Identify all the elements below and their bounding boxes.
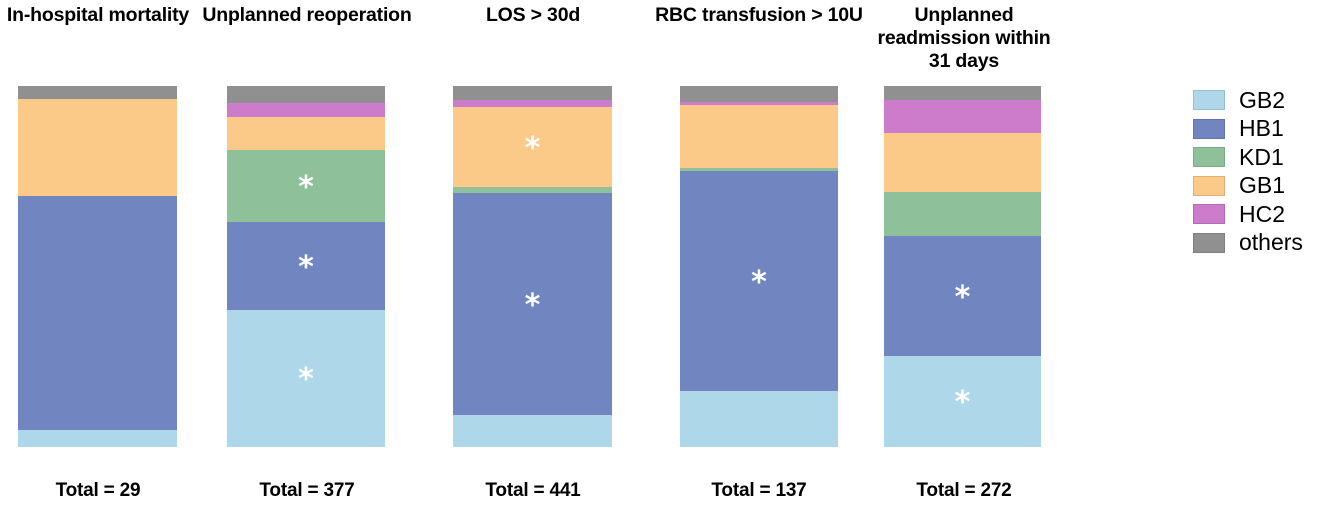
stacked-bar [18,86,177,447]
legend-swatch-icon [1193,90,1225,110]
chart-panel: RBC transfusion > 10U*Total = 137 [653,0,865,513]
chart-panel: Unplanned readmission within 31 days**To… [870,0,1058,513]
bar-segment-kd1: * [227,150,385,222]
legend-label: others [1239,231,1303,254]
bar-segment-gb2 [453,415,612,447]
legend-swatch-icon [1193,204,1225,224]
panel-total-label: Total = 137 [653,480,865,502]
legend-swatch-icon [1193,119,1225,139]
bar-segment-gb2: * [884,356,1041,447]
chart-panel: In-hospital mortalityTotal = 29 [0,0,196,513]
legend-swatch-icon [1193,233,1225,253]
stacked-bar: ** [884,86,1041,447]
bar-segment-gb2 [18,430,177,447]
legend-item-kd1[interactable]: KD1 [1193,143,1325,172]
bar-segment-hb1 [18,196,177,430]
bar-segment-hc2 [884,100,1041,133]
bar-segment-hb1: * [227,222,385,310]
legend-label: KD1 [1239,146,1284,169]
panel-total-label: Total = 441 [428,480,638,502]
legend-label: GB1 [1239,174,1285,197]
bar-segment-gb1 [884,133,1041,192]
bar-segment-others [453,86,612,100]
bar-segment-gb1: * [453,107,612,187]
bar-segment-hb1: * [884,236,1041,356]
bar-segment-gb2: * [227,310,385,447]
bar-segment-hb1: * [453,193,612,415]
panel-title: LOS > 30d [428,4,638,27]
bar-segment-gb2 [680,391,838,447]
panel-total-label: Total = 272 [870,480,1058,502]
bar-segment-kd1 [884,192,1041,236]
stacked-bar: *** [227,86,385,447]
panel-title: Unplanned readmission within 31 days [870,4,1058,73]
panel-title: Unplanned reoperation [202,4,412,27]
stacked-bar: ** [453,86,612,447]
bar-segment-others [884,86,1041,100]
legend-label: HC2 [1239,203,1285,226]
chart-panel: LOS > 30d**Total = 441 [428,0,638,513]
legend-item-hc2[interactable]: HC2 [1193,200,1325,229]
panel-total-label: Total = 29 [0,480,196,502]
panel-total-label: Total = 377 [202,480,412,502]
legend-label: HB1 [1239,117,1284,140]
bar-segment-gb1 [18,99,177,196]
bar-segment-gb1 [227,117,385,150]
panel-title: In-hospital mortality [0,4,196,27]
legend-item-hb1[interactable]: HB1 [1193,115,1325,144]
panel-title: RBC transfusion > 10U [653,4,865,27]
chart-legend: GB2HB1KD1GB1HC2others [1193,86,1325,257]
stacked-bar-chart-figure: In-hospital mortalityTotal = 29Unplanned… [0,0,1325,513]
bar-segment-hb1: * [680,171,838,391]
legend-swatch-icon [1193,176,1225,196]
legend-item-gb1[interactable]: GB1 [1193,172,1325,201]
stacked-bar: * [680,86,838,447]
bar-segment-others [680,86,838,102]
legend-swatch-icon [1193,147,1225,167]
legend-item-gb2[interactable]: GB2 [1193,86,1325,115]
bar-segment-gb1 [680,105,838,168]
legend-label: GB2 [1239,89,1285,112]
bar-segment-hc2 [227,103,385,117]
chart-panels: In-hospital mortalityTotal = 29Unplanned… [0,0,1100,513]
chart-panel: Unplanned reoperation***Total = 377 [202,0,412,513]
bar-segment-others [18,86,177,99]
legend-item-others[interactable]: others [1193,229,1325,258]
bar-segment-others [227,86,385,103]
